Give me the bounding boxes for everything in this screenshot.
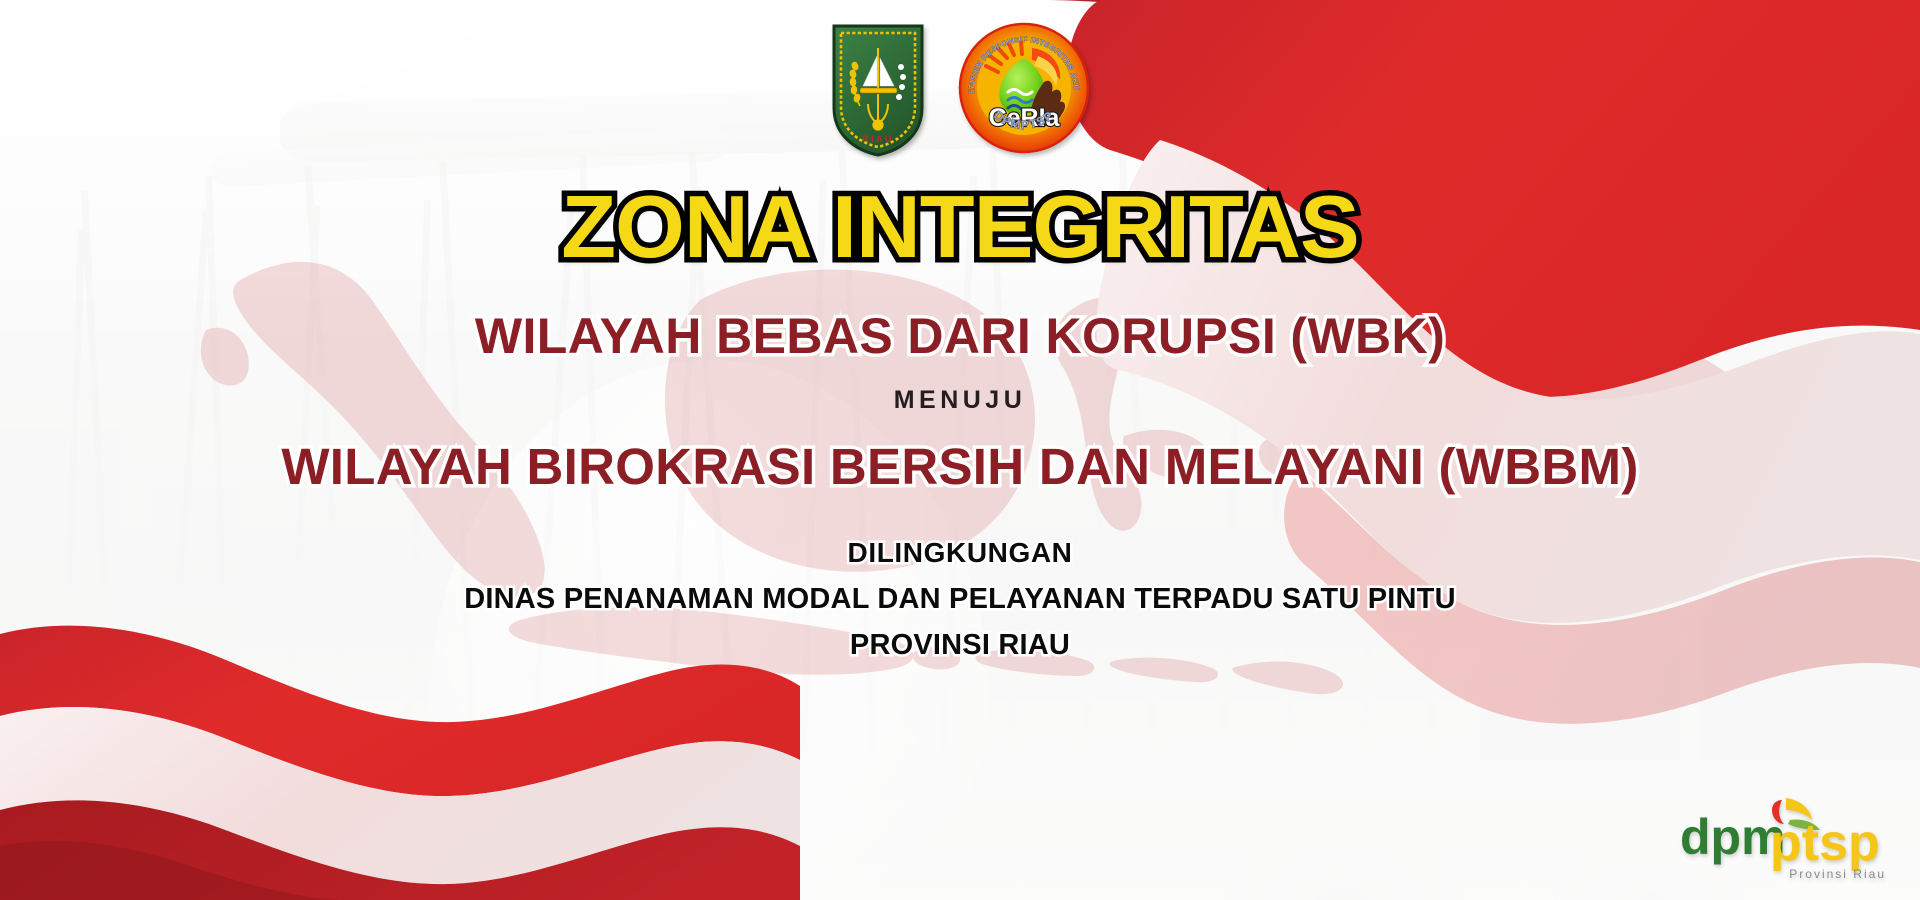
- province-name: PROVINSI RIAU: [0, 629, 1920, 662]
- connector-menuju: MENUJU: [0, 386, 1920, 415]
- scope-label: DILINGKUNGAN: [0, 537, 1920, 569]
- subheadline-wbk: WILAYAH BEBAS DARI KORUPSI (WBK): [0, 307, 1920, 365]
- dpmptsp-part-two: ptsp: [1770, 814, 1880, 872]
- organization-name: DINAS PENANAMAN MODAL DAN PELAYANAN TERP…: [0, 583, 1920, 616]
- subheadline-wbbm: WILAYAH BIROKRASI BERSIH DAN MELAYANI (W…: [0, 437, 1920, 496]
- dpmptsp-tagline: Provinsi Riau: [1789, 867, 1886, 881]
- banner-text-content: ZONA INTEGRITAS WILAYAH BEBAS DARI KORUP…: [0, 0, 1920, 900]
- headline-zona-integritas: ZONA INTEGRITAS: [0, 183, 1920, 271]
- zona-integritas-banner: RIAU: [0, 0, 1920, 900]
